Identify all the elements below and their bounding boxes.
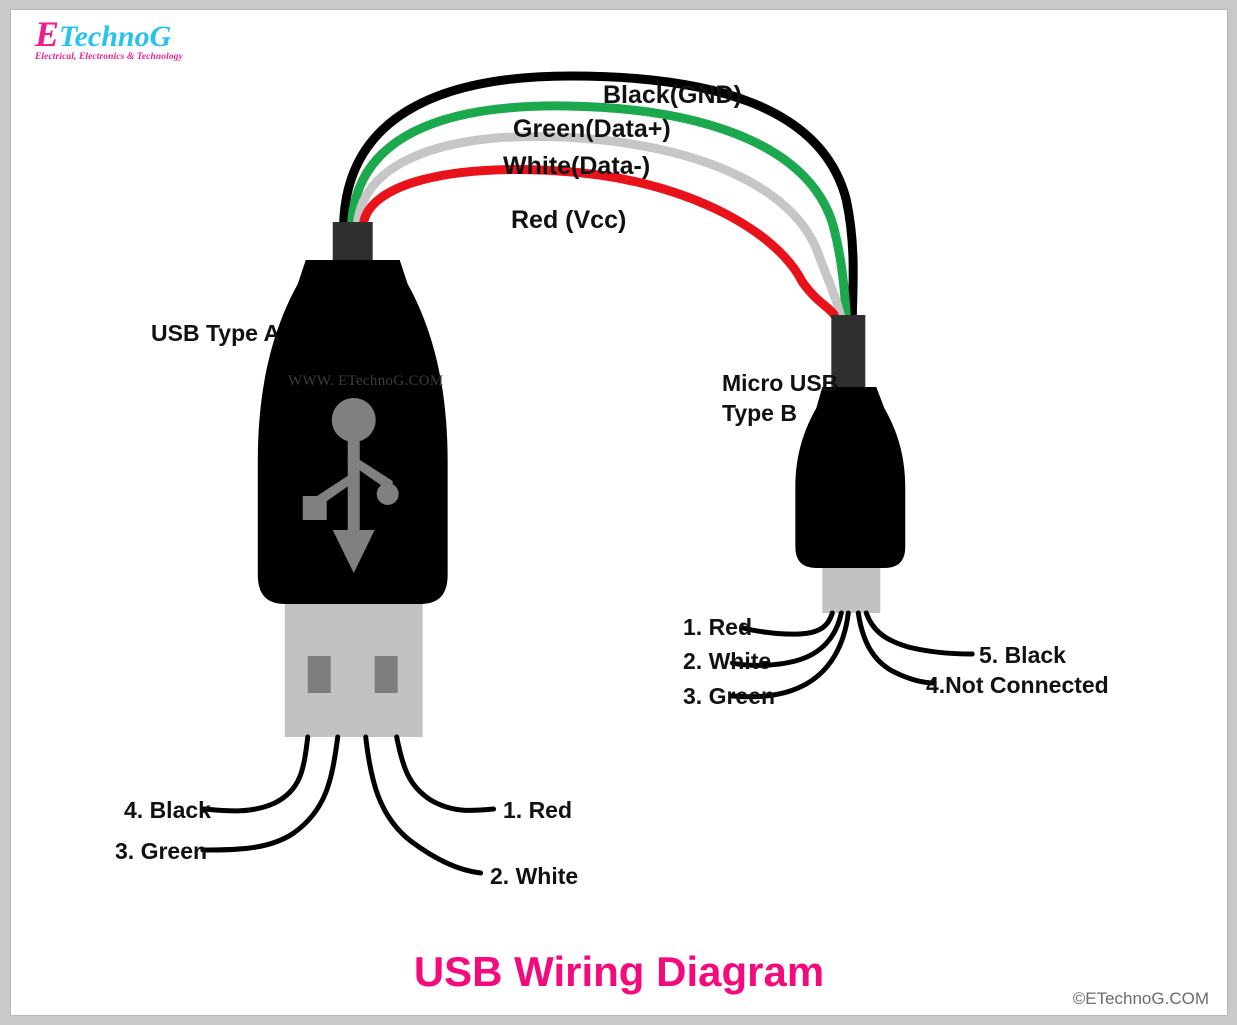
type-a-metal-plug xyxy=(285,604,423,737)
micro-b-label-line2: Type B xyxy=(722,398,838,428)
type-a-contact-left xyxy=(308,656,331,693)
type-a-contact-right xyxy=(375,656,398,693)
leader-a-pin1 xyxy=(397,737,494,810)
wire-label-black: Black(GND) xyxy=(603,81,742,110)
wire-label-green: Green(Data+) xyxy=(513,115,671,144)
type-a-pin-label-3: 3. Green xyxy=(115,838,207,865)
type-a-leader-lines xyxy=(203,737,494,873)
type-a-collar xyxy=(333,222,373,260)
leader-a-pin4 xyxy=(204,737,308,811)
page-title: USB Wiring Diagram xyxy=(11,948,1227,996)
micro-b-pin-label-4: 4.Not Connected xyxy=(926,672,1109,699)
micro-b-pin-label-2: 2. White xyxy=(683,648,771,675)
micro-b-metal-plug xyxy=(822,568,880,613)
diagram-page: ETechnoG Electrical, Electronics & Techn… xyxy=(0,0,1237,1025)
wire-label-red: Red (Vcc) xyxy=(511,206,626,235)
diagram-canvas: ETechnoG Electrical, Electronics & Techn… xyxy=(10,9,1228,1016)
type-a-pin-label-4: 4. Black xyxy=(124,797,211,824)
type-a-label: USB Type A xyxy=(151,318,280,348)
usb-type-a-connector xyxy=(258,222,448,737)
micro-b-pin-label-3: 3. Green xyxy=(683,683,775,710)
micro-b-pin-label-5: 5. Black xyxy=(979,642,1066,669)
micro-b-pin-label-1: 1. Red xyxy=(683,614,752,641)
micro-b-label-line1: Micro USB xyxy=(722,368,838,398)
type-a-pin-label-2: 2. White xyxy=(490,863,578,890)
type-a-pin-label-1: 1. Red xyxy=(503,797,572,824)
micro-b-label: Micro USB Type B xyxy=(722,368,838,428)
wire-label-white: White(Data-) xyxy=(503,152,650,181)
micro-usb-b-connector xyxy=(795,315,905,613)
leader-a-pin3 xyxy=(203,737,338,850)
leader-m-pin5 xyxy=(866,613,972,654)
copyright-credit: ©ETechnoG.COM xyxy=(1073,989,1209,1009)
leader-a-pin2 xyxy=(366,737,481,873)
cable-bundle xyxy=(344,76,853,315)
watermark-text: WWW. ETechnoG.COM xyxy=(288,373,444,390)
leader-m-pin1 xyxy=(743,613,832,634)
